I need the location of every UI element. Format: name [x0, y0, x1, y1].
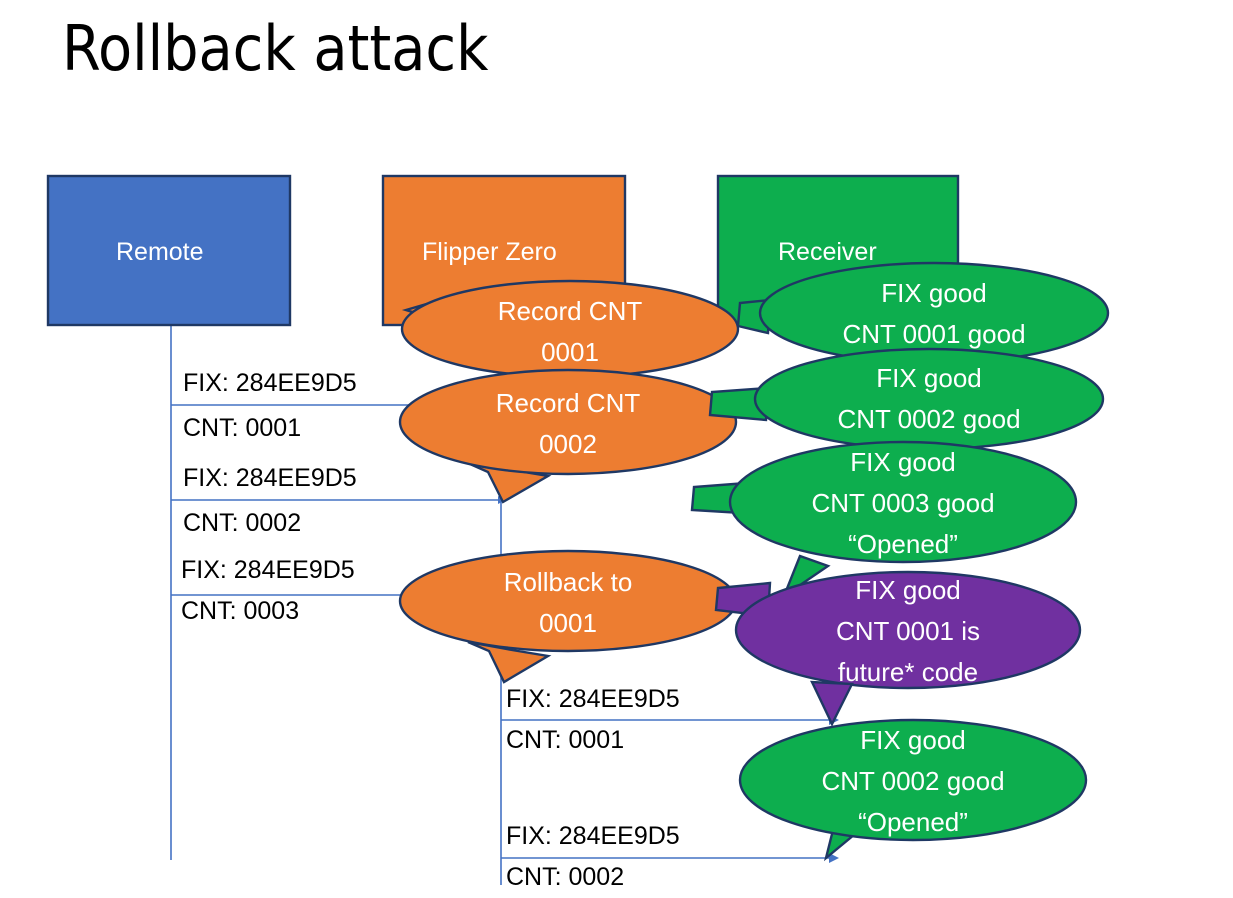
callout-line: FIX good	[779, 358, 1079, 399]
callout-text-record-cnt-0002: Record CNT 0002	[418, 383, 718, 465]
callout-line: CNT 0001 good	[784, 314, 1084, 355]
callout-text-fix-good-cnt-0001-future-code: FIX good CNT 0001 is future* code	[758, 570, 1058, 693]
message-cnt-4: CNT: 0001	[506, 725, 624, 756]
callout-line: Rollback to	[418, 562, 718, 603]
callout-line: FIX good	[763, 720, 1063, 761]
callout-line: Record CNT	[420, 291, 720, 332]
callout-line: CNT 0003 good	[753, 483, 1053, 524]
lane-label-receiver: Receiver	[778, 237, 877, 267]
message-fix-5: FIX: 284EE9D5	[506, 821, 680, 852]
message-cnt-2: CNT: 0002	[183, 508, 301, 539]
callout-line: CNT 0001 is	[758, 611, 1058, 652]
message-fix-4: FIX: 284EE9D5	[506, 684, 680, 715]
arrow-remote-to-flipper-2	[171, 496, 506, 504]
callout-text-fix-good-cnt-0002-good-opened: FIX good CNT 0002 good “Opened”	[763, 720, 1063, 843]
callout-line: future* code	[758, 652, 1058, 693]
callout-line: Record CNT	[418, 383, 718, 424]
message-cnt-5: CNT: 0002	[506, 862, 624, 893]
callout-line: “Opened”	[763, 802, 1063, 843]
message-fix-2: FIX: 284EE9D5	[183, 463, 357, 494]
callout-line: 0001	[420, 332, 720, 373]
slide-canvas: Rollback attack	[0, 0, 1233, 898]
callout-line: FIX good	[753, 442, 1053, 483]
callout-text-fix-good-cnt-0001-good: FIX good CNT 0001 good	[784, 273, 1084, 355]
callout-line: CNT 0002 good	[779, 399, 1079, 440]
callout-text-record-cnt-0001: Record CNT 0001	[420, 291, 720, 373]
message-fix-3: FIX: 284EE9D5	[181, 555, 355, 586]
callout-line: 0002	[418, 424, 718, 465]
callout-text-fix-good-cnt-0003-good-opened: FIX good CNT 0003 good “Opened”	[753, 442, 1053, 565]
message-cnt-1: CNT: 0001	[183, 413, 301, 444]
callout-line: “Opened”	[753, 524, 1053, 565]
callout-line: 0001	[418, 603, 718, 644]
callout-line: FIX good	[784, 273, 1084, 314]
lane-label-remote: Remote	[116, 237, 204, 267]
lane-label-flipper: Flipper Zero	[422, 237, 557, 267]
callout-text-rollback-to-0001: Rollback to 0001	[418, 562, 718, 644]
callout-line: CNT 0002 good	[763, 761, 1063, 802]
callout-text-fix-good-cnt-0002-good: FIX good CNT 0002 good	[779, 358, 1079, 440]
message-fix-1: FIX: 284EE9D5	[183, 368, 357, 399]
message-cnt-3: CNT: 0003	[181, 596, 299, 627]
callout-line: FIX good	[758, 570, 1058, 611]
